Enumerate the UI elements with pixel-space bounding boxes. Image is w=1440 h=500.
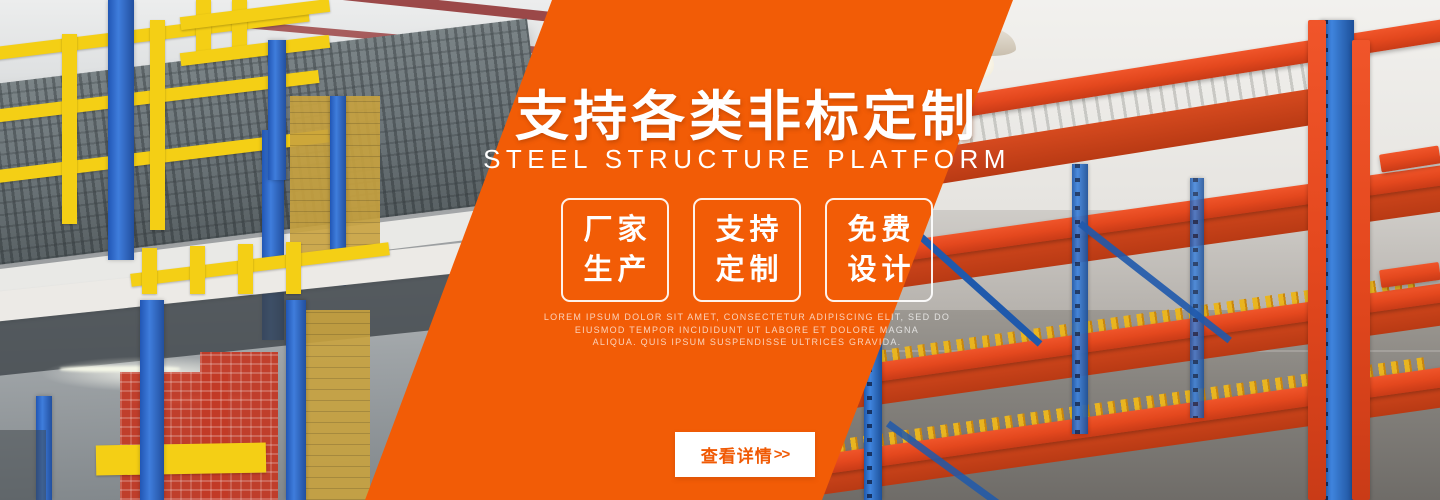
badge-line-2: 设计 bbox=[842, 250, 915, 290]
cta-container: 查看详情 >> bbox=[0, 432, 1440, 477]
badge-line-1: 支持 bbox=[710, 210, 783, 250]
badge-line-2: 定制 bbox=[710, 250, 783, 290]
description-line-1: LOREM IPSUM DOLOR SIT AMET, CONSECTETUR … bbox=[54, 311, 1440, 324]
feature-badge-manufacturer: 厂家 生产 bbox=[561, 198, 669, 302]
banner-content: 支持各类非标定制 STEEL STRUCTURE PLATFORM 厂家 生产 … bbox=[0, 0, 1440, 500]
description-line-3: ALIQUA. QUIS IPSUM SUSPENDISSE ULTRICES … bbox=[54, 336, 1440, 349]
feature-badge-customization: 支持 定制 bbox=[693, 198, 801, 302]
promo-banner: 支持各类非标定制 STEEL STRUCTURE PLATFORM 厂家 生产 … bbox=[0, 0, 1440, 500]
description-text: LOREM IPSUM DOLOR SIT AMET, CONSECTETUR … bbox=[0, 311, 1440, 349]
subtitle: STEEL STRUCTURE PLATFORM bbox=[0, 144, 1440, 175]
feature-badge-free-design: 免费 设计 bbox=[825, 198, 933, 302]
description-line-2: EIUSMOD TEMPOR INCIDIDUNT UT LABORE ET D… bbox=[54, 324, 1440, 337]
badge-line-1: 免费 bbox=[842, 210, 915, 250]
view-details-button[interactable]: 查看详情 >> bbox=[675, 432, 815, 477]
chevron-right-icon: >> bbox=[774, 446, 790, 463]
view-details-label: 查看详情 bbox=[701, 442, 773, 467]
feature-badge-group: 厂家 生产 支持 定制 免费 设计 bbox=[0, 198, 1440, 302]
badge-line-1: 厂家 bbox=[578, 210, 651, 250]
badge-line-2: 生产 bbox=[578, 250, 651, 290]
page-title: 支持各类非标定制 bbox=[0, 72, 1440, 151]
